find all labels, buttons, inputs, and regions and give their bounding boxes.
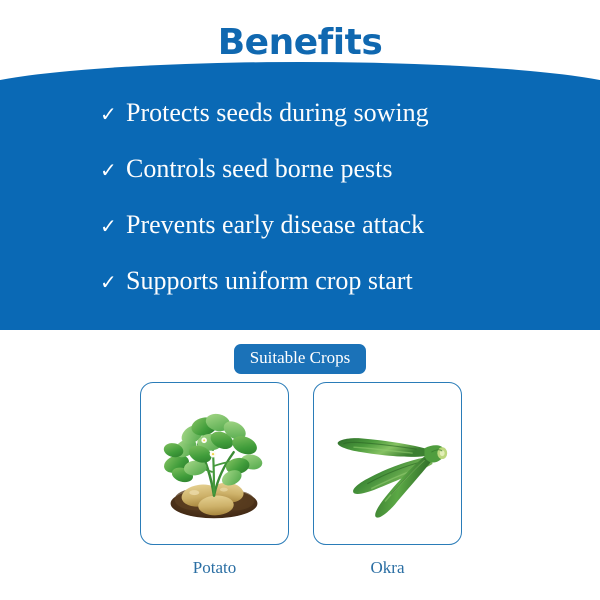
crop-card-potato[interactable] <box>140 382 289 545</box>
suitable-crops-row: Potato <box>140 382 462 582</box>
check-icon: ✓ <box>100 104 126 124</box>
check-icon: ✓ <box>100 216 126 236</box>
benefit-item: ✓ Protects seeds during sowing <box>0 100 600 156</box>
benefit-item-label: Prevents early disease attack <box>126 212 424 238</box>
crop-cell-potato: Potato <box>140 382 289 582</box>
benefit-item: ✓ Prevents early disease attack <box>0 212 600 268</box>
crop-card-label-potato: Potato <box>140 558 289 578</box>
page-title: Benefits <box>0 22 600 63</box>
check-icon: ✓ <box>100 160 126 180</box>
check-icon: ✓ <box>100 272 126 292</box>
crop-card-okra[interactable] <box>313 382 462 545</box>
benefits-list: ✓ Protects seeds during sowing ✓ Control… <box>0 100 600 324</box>
benefit-item-label: Supports uniform crop start <box>126 268 413 294</box>
benefit-item: ✓ Controls seed borne pests <box>0 156 600 212</box>
crop-cell-okra: Okra <box>313 382 462 582</box>
crop-card-label-okra: Okra <box>313 558 462 578</box>
benefit-item-label: Protects seeds during sowing <box>126 100 429 126</box>
benefit-item: ✓ Supports uniform crop start <box>0 268 600 324</box>
suitable-crops-badge-wrap: Suitable Crops <box>0 344 600 374</box>
benefit-item-label: Controls seed borne pests <box>126 156 392 182</box>
infographic-page: Benefits ✓ Protects seeds during sowing … <box>0 0 600 600</box>
potato-plant-icon <box>141 383 288 544</box>
suitable-crops-badge: Suitable Crops <box>234 344 367 374</box>
okra-pods-icon <box>314 383 461 544</box>
